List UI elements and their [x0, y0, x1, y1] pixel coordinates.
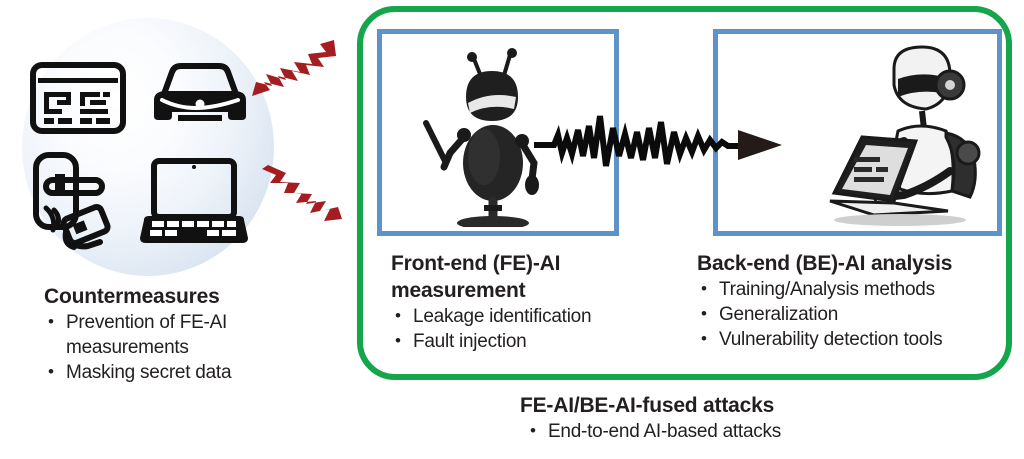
- smart-door-lock-icon: [30, 152, 130, 250]
- analysis-robot-icon: [828, 45, 994, 227]
- leakage-waveform-arrow-icon: [534, 108, 806, 180]
- list-item: Generalization: [697, 302, 1013, 327]
- laptop-icon: [138, 158, 250, 246]
- smartcard-icon: [30, 62, 126, 134]
- figure-canvas: Countermeasures Prevention of FE-AI meas…: [0, 0, 1024, 459]
- list-item: End-to-end AI-based attacks: [520, 419, 940, 444]
- fe-text-block: Front-end (FE)-AI measurement Leakage id…: [391, 250, 661, 354]
- list-item: Prevention of FE-AI measurements: [44, 310, 344, 360]
- fused-attacks-text-block: FE-AI/BE-AI-fused attacks End-to-end AI-…: [520, 392, 940, 444]
- be-bullet-list: Training/Analysis methods Generalization…: [697, 277, 1013, 352]
- countermeasures-heading: Countermeasures: [44, 283, 344, 310]
- car-icon: [148, 60, 252, 134]
- fused-attacks-heading: FE-AI/BE-AI-fused attacks: [520, 392, 940, 419]
- list-item: Training/Analysis methods: [697, 277, 1013, 302]
- countermeasures-text-block: Countermeasures Prevention of FE-AI meas…: [44, 283, 344, 385]
- fe-heading: Front-end (FE)-AI measurement: [391, 250, 661, 304]
- list-item: Vulnerability detection tools: [697, 327, 1013, 352]
- be-text-block: Back-end (BE)-AI analysis Training/Analy…: [697, 250, 1013, 352]
- fe-bullet-list: Leakage identification Fault injection: [391, 304, 661, 354]
- fused-attacks-bullet-list: End-to-end AI-based attacks: [520, 419, 940, 444]
- countermeasures-bullet-list: Prevention of FE-AI measurements Masking…: [44, 310, 344, 385]
- attack-arrow-top-icon: [250, 38, 336, 98]
- list-item: Fault injection: [391, 329, 661, 354]
- list-item: Leakage identification: [391, 304, 661, 329]
- list-item: Masking secret data: [44, 360, 344, 385]
- be-heading: Back-end (BE)-AI analysis: [697, 250, 1013, 277]
- attack-arrow-bottom-icon: [258, 163, 344, 225]
